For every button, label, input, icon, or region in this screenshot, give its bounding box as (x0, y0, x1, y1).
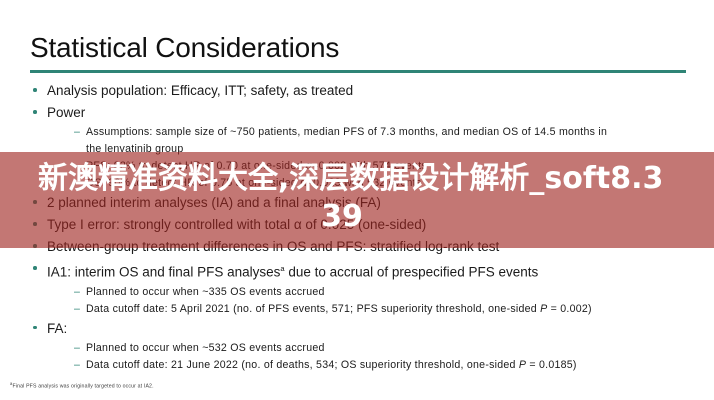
sub-list-item-label: PFS: 92% to detect HR of 0.70 at one-sid… (86, 160, 427, 172)
dash-bullet-icon: – (74, 301, 80, 318)
sub-list-item: – Planned to occur when ~532 OS events a… (30, 340, 690, 357)
sub-list-item: – Data cutoff date: 5 April 2021 (no. of… (30, 301, 690, 318)
page-title: Statistical Considerations (30, 32, 339, 64)
list-item: 2 planned interim analyses (IA) and a fi… (30, 192, 690, 213)
bullet-dot-icon (33, 200, 37, 204)
list-item-label: Type I error: strongly controlled with t… (47, 217, 426, 232)
slide-canvas: Statistical Considerations Analysis popu… (0, 0, 714, 400)
list-item: Analysis population: Efficacy, ITT; safe… (30, 80, 690, 101)
list-item: Between-group treatment differences in O… (30, 236, 690, 257)
sub-list-item-continuation: the lenvatinib group (30, 141, 690, 158)
dash-bullet-icon: – (74, 284, 80, 301)
bullet-dot-icon (33, 266, 37, 270)
bullet-dot-icon (33, 244, 37, 248)
footnote: aFinal PFS analysis was originally targe… (10, 380, 154, 391)
dash-bullet-icon: – (74, 340, 80, 357)
dash-bullet-icon: – (74, 357, 80, 374)
bullet-dot-icon (33, 222, 37, 226)
title-underline-rule (30, 70, 686, 73)
sub-list-item: – Planned to occur when ~335 OS events a… (30, 284, 690, 301)
sub-list-item-label-post: = 0.002) (547, 303, 591, 315)
footnote-text: Final PFS analysis was originally target… (12, 384, 153, 390)
bullet-dot-icon (33, 110, 37, 114)
sub-list-item-label-post: = 0.0185) (526, 359, 577, 371)
list-item: Type I error: strongly controlled with t… (30, 214, 690, 235)
sub-list-item: – OS: 90% to detect HR of 0.75 at one-si… (30, 175, 690, 192)
bullet-dot-icon (33, 88, 37, 92)
sub-list-item-label: OS: 90% to detect HR of 0.75 at one-side… (86, 177, 421, 189)
sub-list-item: – Assumptions: sample size of ~750 patie… (30, 124, 690, 141)
list-item-label: Power (47, 105, 85, 120)
sub-list-item-label: Planned to occur when ~532 OS events acc… (86, 342, 325, 354)
sub-list-item-label: Planned to occur when ~335 OS events acc… (86, 286, 325, 298)
sub-list-item: – Data cutoff date: 21 June 2022 (no. of… (30, 357, 690, 374)
list-item-label: Analysis population: Efficacy, ITT; safe… (47, 83, 353, 98)
dash-bullet-icon: – (74, 124, 80, 141)
list-item-label: 2 planned interim analyses (IA) and a fi… (47, 195, 381, 210)
list-item: Power (30, 102, 690, 123)
slide-body: Analysis population: Efficacy, ITT; safe… (30, 80, 690, 374)
sub-list-item-label-pre: Data cutoff date: 21 June 2022 (no. of d… (86, 359, 519, 371)
list-item: FA: (30, 318, 690, 339)
dash-bullet-icon: – (74, 175, 80, 192)
list-item-label-pre: IA1: interim OS and final PFS analyses (47, 265, 280, 280)
dash-bullet-icon: – (74, 158, 80, 175)
list-item: IA1: interim OS and final PFS analysesa … (30, 258, 690, 283)
list-item-label: FA: (47, 321, 67, 336)
sub-list-item-label-pre: Data cutoff date: 5 April 2021 (no. of P… (86, 303, 540, 315)
list-item-label-post: due to accrual of prespecified PFS event… (285, 265, 539, 280)
list-item-label: Between-group treatment differences in O… (47, 239, 499, 254)
sub-list-item: – PFS: 92% to detect HR of 0.70 at one-s… (30, 158, 690, 175)
sub-list-item-label: Assumptions: sample size of ~750 patient… (86, 126, 607, 138)
bullet-dot-icon (33, 326, 37, 330)
